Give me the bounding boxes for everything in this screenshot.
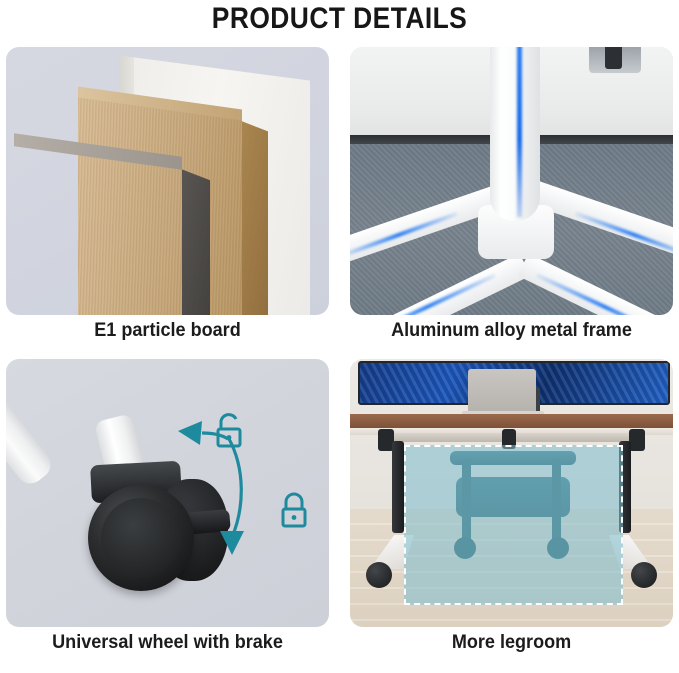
caption-universal-wheel: Universal wheel with brake [14,631,321,655]
caption-legroom: More legroom [358,631,665,655]
frame-column [490,47,540,221]
panel-grid: E1 particle board Aluminum al [6,47,673,673]
panel-universal-wheel: Universal wheel with brake [6,359,329,659]
unlock-icon [209,409,249,453]
caption-metal-frame: Aluminum alloy metal frame [358,319,665,343]
gray-board-face [14,145,182,315]
laptop [468,369,536,414]
caption-particle-board: E1 particle board [14,319,321,343]
panel-particle-board: E1 particle board [6,47,329,347]
panel-legroom: More legroom [350,359,673,659]
wood-board-side [242,121,268,315]
page-title: PRODUCT DETAILS [41,2,639,36]
legroom-highlight-area [404,445,623,605]
gray-board-side [182,169,210,315]
lock-icon [274,489,314,533]
desk-clamp-right [629,429,645,451]
product-details-infographic: PRODUCT DETAILS E1 part [0,0,679,673]
desk-leg-left-dark [392,441,404,533]
desk-caster-right [631,562,657,588]
mount-bracket [589,47,641,73]
gray-board [14,145,182,315]
universal-wheel-image [6,359,329,627]
metal-frame-image [350,47,673,315]
column-led-glow [517,47,522,217]
desk-top-surface [350,414,673,428]
legroom-image [350,359,673,627]
particle-board-image [6,47,329,315]
panel-metal-frame: Aluminum alloy metal frame [350,47,673,347]
desk-caster-left [366,562,392,588]
